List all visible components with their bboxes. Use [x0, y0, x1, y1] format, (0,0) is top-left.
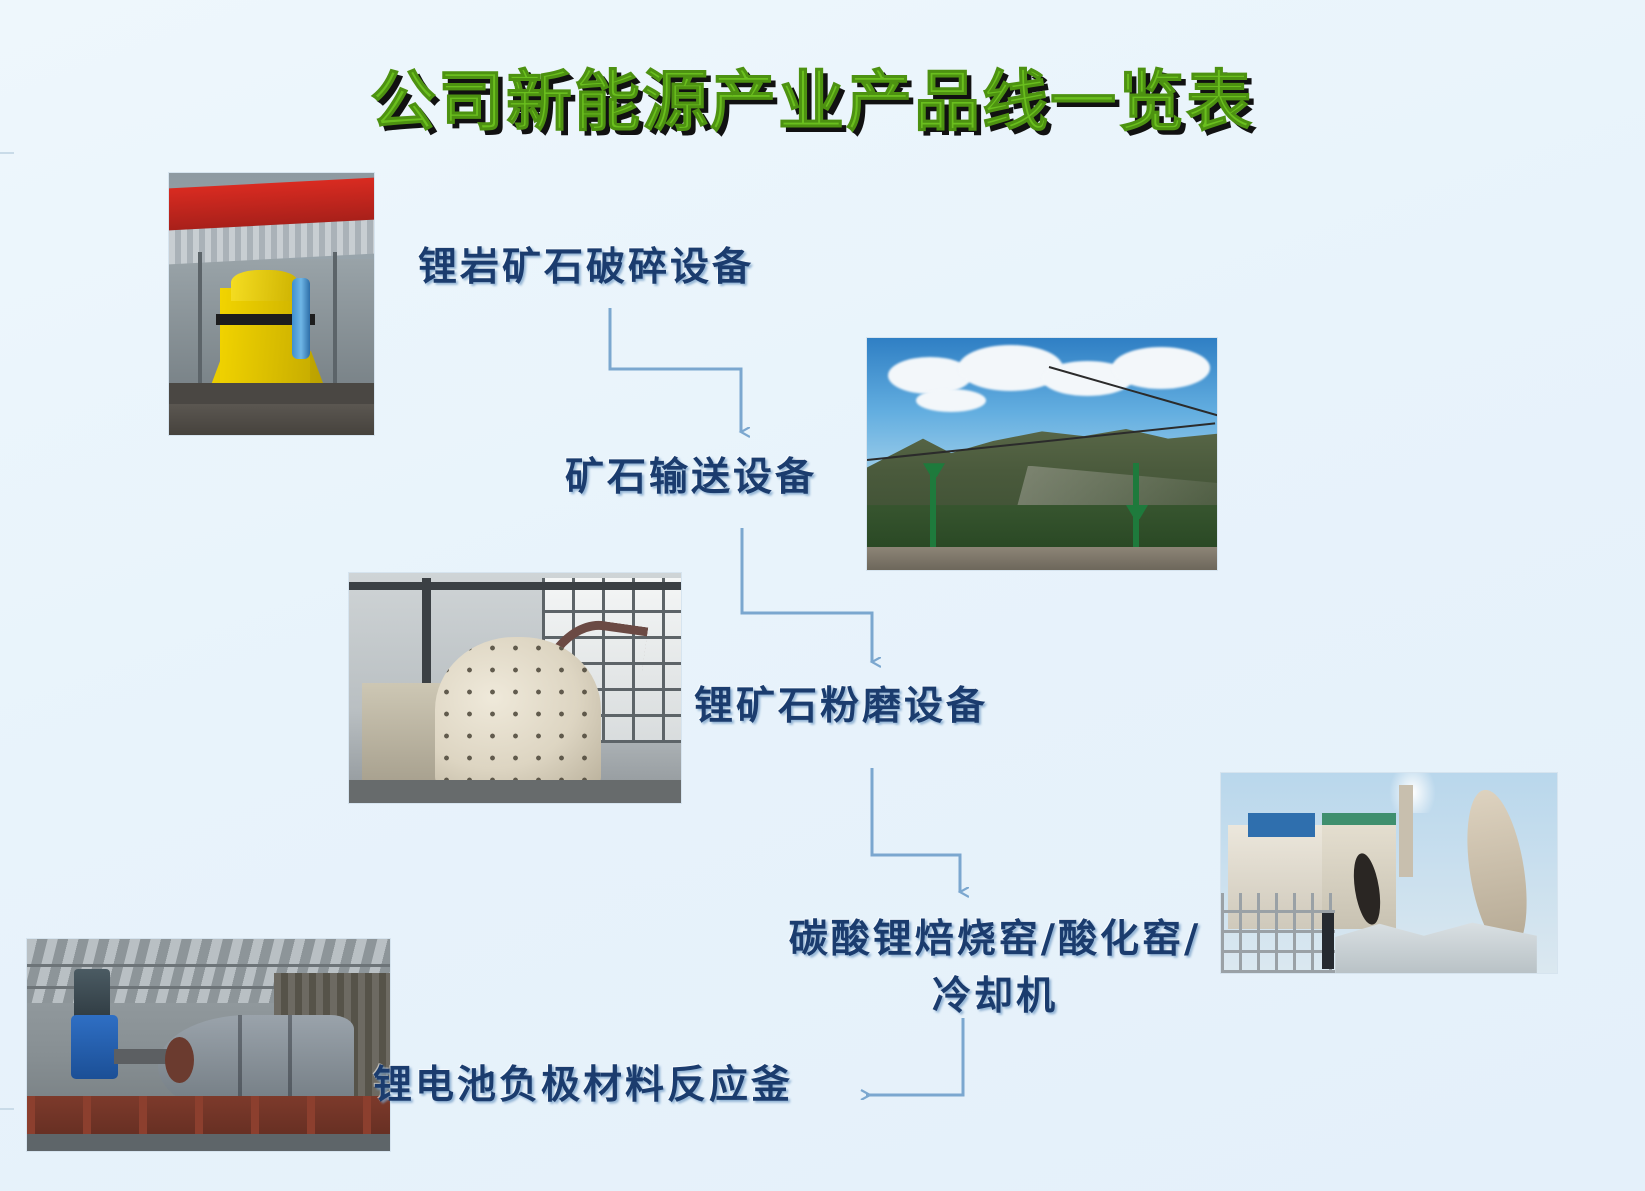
photo-crusher-hydraulic-cylinder: [292, 278, 310, 359]
photo-reactor-floor: [27, 1134, 390, 1151]
photo-crusher-floor: [169, 404, 374, 435]
photo-ball-mill-top-beam: [349, 582, 681, 590]
photo-crusher: [168, 172, 375, 436]
photo-ball-mill-bolt-pattern: [435, 637, 601, 789]
photo-ball-mill-floor: [349, 780, 681, 803]
photo-crusher-cone-top: [231, 270, 299, 301]
photo-crusher-column-left: [198, 252, 202, 396]
photo-rotary-kiln: [1220, 772, 1558, 974]
flow-label-crusher: 锂岩矿石破碎设备: [418, 240, 754, 297]
photo-reactor-purlin-1: [27, 964, 390, 967]
photo-ball-mill: [348, 572, 682, 804]
flow-label-kiln-line1: 碳酸锂焙烧窑/酸化窑/: [760, 912, 1230, 969]
decorative-rule-bottom: [0, 1108, 14, 1110]
photo-ropeway: [866, 337, 1218, 571]
photo-ball-mill-drive-housing: [362, 683, 442, 780]
decorative-rule-top: [0, 152, 14, 154]
flow-label-kiln: 碳酸锂焙烧窑/酸化窑/ 冷却机: [760, 912, 1230, 1025]
photo-ropeway-ground: [867, 547, 1217, 570]
flow-label-kiln-line2: 冷却机: [760, 969, 1230, 1026]
page-title: 公司新能源产业产品线一览表: [370, 48, 1254, 144]
flow-label-reactor: 锂电池负极材料反应釜: [373, 1058, 793, 1115]
photo-crusher-base: [169, 383, 374, 404]
photo-rotary-kiln-pipe-rack: [1221, 893, 1335, 973]
photo-rotary-kiln-building-left-roof: [1248, 813, 1315, 837]
photo-reactor: [26, 938, 391, 1152]
photo-ropeway-cloud-4: [1112, 347, 1210, 389]
flow-label-grinding: 锂矿石粉磨设备: [694, 679, 988, 736]
slide-canvas: 公司新能源产业产品线一览表: [0, 0, 1645, 1191]
flow-label-conveyor: 矿石输送设备: [565, 450, 817, 507]
photo-reactor-motor: [74, 969, 110, 1020]
photo-crusher-column-right: [333, 252, 337, 396]
photo-reactor-gearbox: [71, 1015, 118, 1079]
photo-rotary-kiln-worker: [1322, 913, 1334, 969]
photo-ropeway-cloud-5: [916, 389, 986, 412]
photo-reactor-coupling-flange: [165, 1037, 194, 1084]
